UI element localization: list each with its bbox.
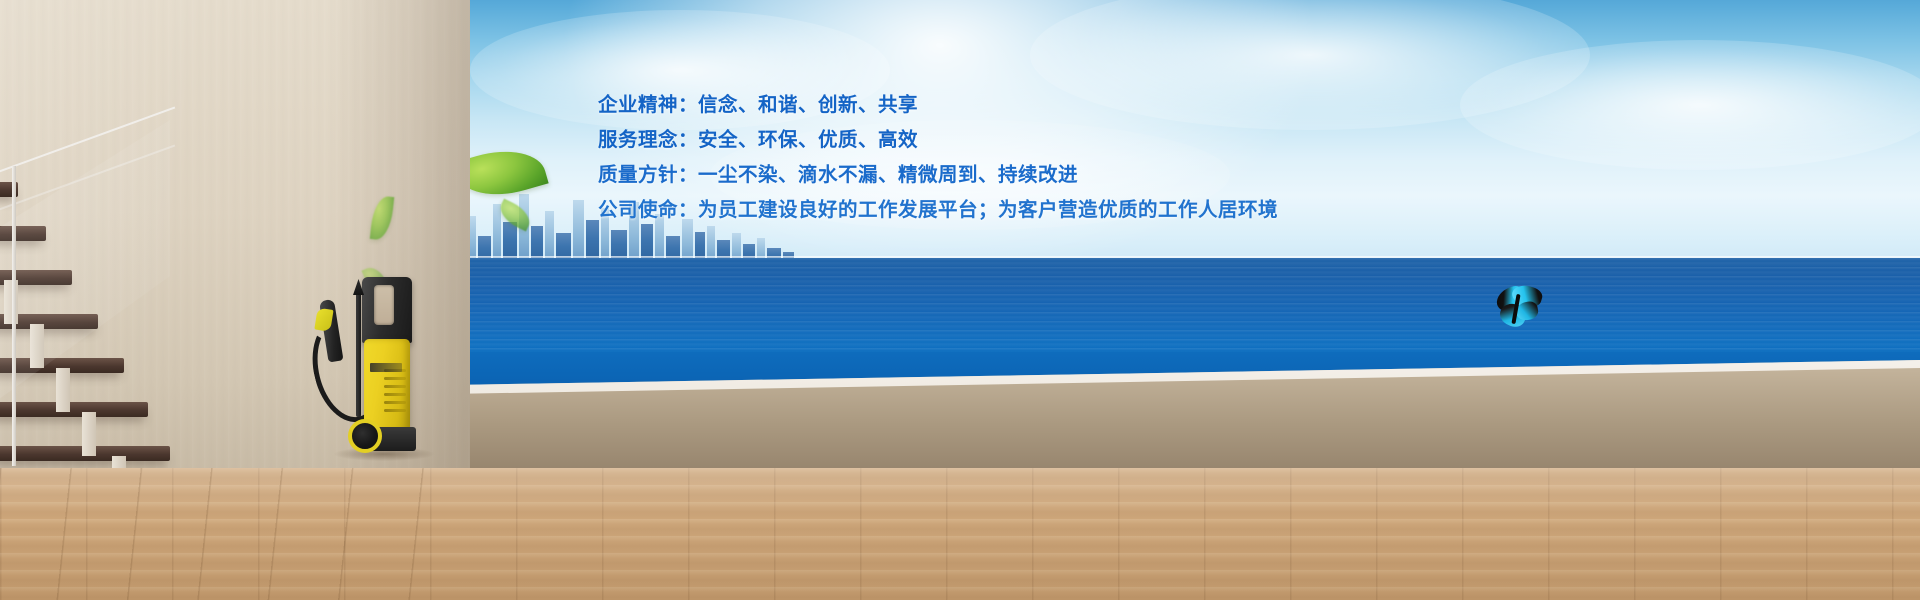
value-line-service: 服务理念：安全、环保、优质、高效 xyxy=(598,123,1358,158)
floor-left xyxy=(0,468,470,600)
value-line-quality: 质量方针：一尘不染、滴水不漏、精微周到、持续改进 xyxy=(598,158,1358,193)
corporate-values-text: 企业精神：信念、和谐、创新、共享 服务理念：安全、环保、优质、高效 质量方针：一… xyxy=(598,88,1358,228)
washer-brand-label xyxy=(370,363,402,372)
staircase xyxy=(0,120,200,480)
value-line-spirit: 企业精神：信念、和谐、创新、共享 xyxy=(598,88,1358,123)
value-line-mission: 公司使命：为员工建设良好的工作发展平台；为客户营造优质的工作人居环境 xyxy=(598,193,1358,228)
washer-body xyxy=(364,339,410,431)
pressure-washer xyxy=(312,255,432,460)
wheel-icon xyxy=(348,419,382,453)
stair-rail-post xyxy=(12,166,16,466)
stair-glass-panel xyxy=(0,120,170,420)
banner-stage: 企业精神：信念、和谐、创新、共享 服务理念：安全、环保、优质、高效 质量方针：一… xyxy=(0,0,1920,600)
